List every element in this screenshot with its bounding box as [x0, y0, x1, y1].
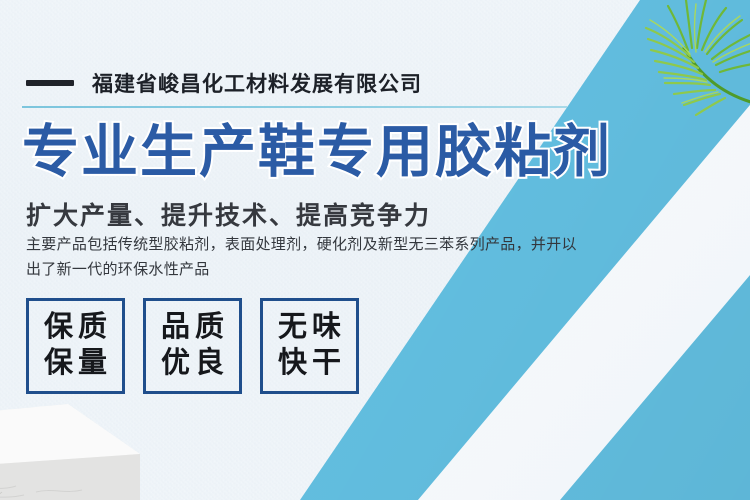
description-line-1: 主要产品包括传统型胶粘剂，表面处理剂，硬化剂及新型无三苯系列产品，并开以: [26, 232, 662, 257]
feature-badge-line-1: 保质: [39, 309, 112, 345]
feature-badge-line-2: 快干: [273, 345, 346, 381]
company-row: 福建省峻昌化工材料发展有限公司: [26, 68, 422, 98]
feature-badge-line-1: 品质: [156, 309, 229, 345]
feature-badge: 无味 快干: [260, 298, 359, 394]
feature-badge-line-1: 无味: [273, 309, 346, 345]
banner-content: 福建省峻昌化工材料发展有限公司 专业生产鞋专用胶粘剂 扩大产量、提升技术、提高竞…: [0, 0, 750, 500]
promotional-banner: 福建省峻昌化工材料发展有限公司 专业生产鞋专用胶粘剂 扩大产量、提升技术、提高竞…: [0, 0, 750, 500]
feature-badge: 保质 保量: [26, 298, 125, 394]
horizontal-rule: [22, 106, 567, 108]
company-name: 福建省峻昌化工材料发展有限公司: [92, 68, 422, 98]
feature-badge-line-2: 优良: [156, 345, 229, 381]
feature-badge-line-2: 保量: [39, 345, 112, 381]
description-line-2: 出了新一代的环保水性产品: [26, 257, 662, 282]
description: 主要产品包括传统型胶粘剂，表面处理剂，硬化剂及新型无三苯系列产品，并开以 出了新…: [26, 232, 662, 282]
feature-badges: 保质 保量 品质 优良 无味 快干: [26, 298, 359, 394]
subheadline: 扩大产量、提升技术、提高竞争力: [26, 196, 431, 232]
feature-badge: 品质 优良: [143, 298, 242, 394]
dash-mark-icon: [26, 80, 74, 86]
headline: 专业生产鞋专用胶粘剂: [22, 122, 612, 184]
